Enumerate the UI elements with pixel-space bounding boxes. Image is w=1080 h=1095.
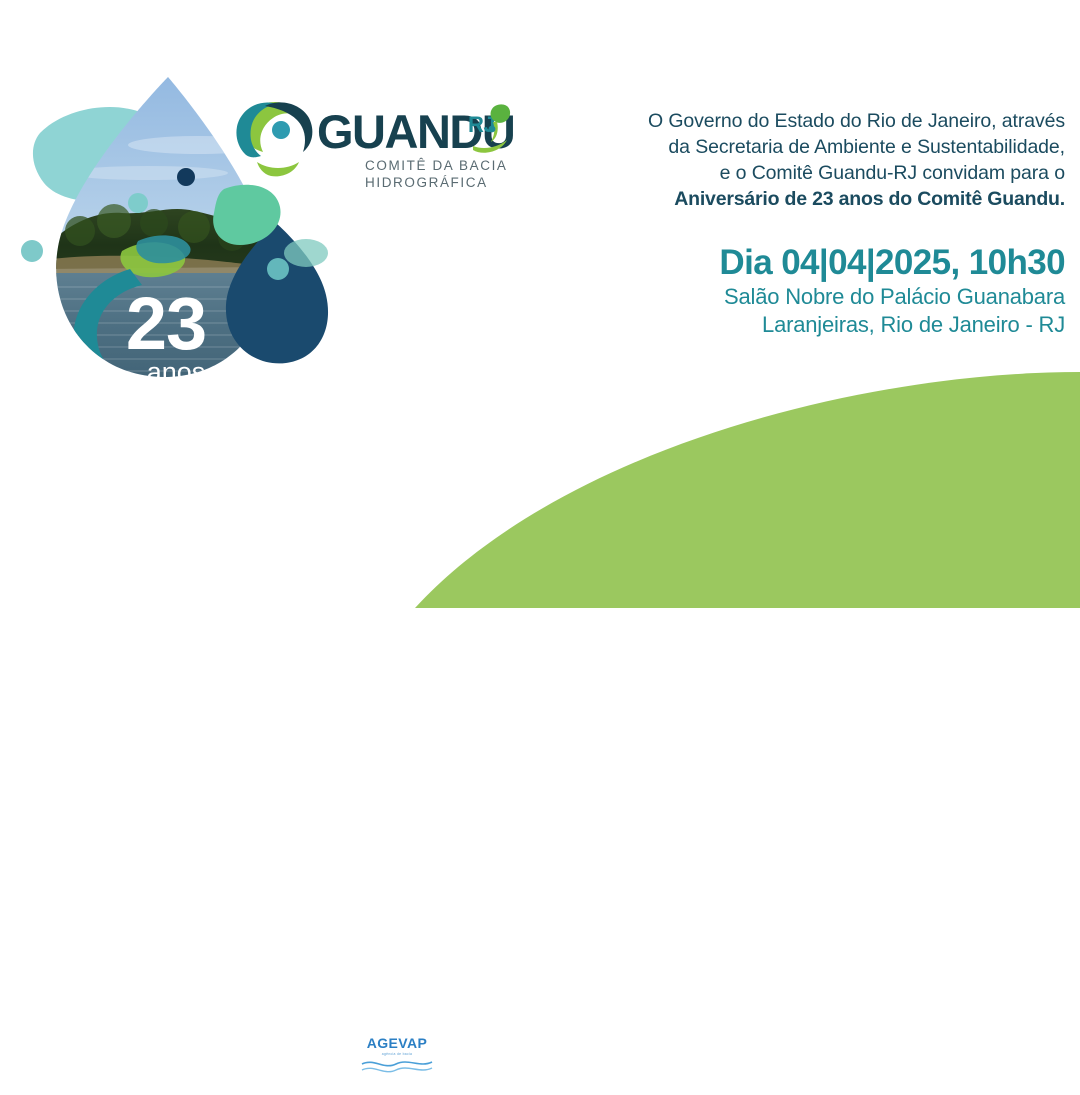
footer-logo-strip: AGEVAP agência de bacia FUNDO ESTADUAL D…: [0, 512, 1080, 596]
decor-blob-right: [284, 239, 328, 267]
secretaria-logo: Secretaria de Ambiente e Sustentabilidad…: [702, 1049, 782, 1078]
invitation-line-1: O Governo do Estado do Rio de Janeiro, a…: [520, 108, 1065, 134]
rio2030-name: Rio: [984, 1047, 1012, 1068]
guandu-subtitle-2: HIDROGRÁFICA: [365, 175, 488, 190]
fundrhi-name: FUNDRHI: [482, 1043, 582, 1067]
invitation-line-3: e o Comitê Guandu-RJ convidam para o: [520, 160, 1065, 186]
agevap-name: AGEVAP: [360, 1036, 434, 1051]
rio2030-mark: Rio 20 30 É nossa, de sua: [982, 1042, 1068, 1086]
decor-dot-navy: [177, 168, 195, 186]
inea-name: inea: [571, 1049, 621, 1077]
secretaria-line-1: Secretaria de: [702, 1049, 782, 1059]
event-details-block: Dia 04|04|2025, 10h30 Salão Nobre do Pal…: [520, 243, 1065, 339]
decor-dot-left: [21, 240, 43, 262]
governo-main-text: RIO DE JANEIRO: [833, 1040, 970, 1082]
anniversary-label: anos: [147, 357, 206, 387]
governo-divider: [833, 1084, 970, 1085]
inea-line-1: instituto estadual: [626, 1053, 689, 1064]
fundrhi-logo: FUNDO ESTADUAL DE FUNDRHI RECURSOS HÍDRI…: [482, 1039, 582, 1087]
event-venue: Salão Nobre do Palácio Guanabara: [520, 283, 1065, 311]
secretaria-line-3: Sustentabilidade: [702, 1068, 782, 1078]
decor-dot-teal2: [267, 258, 289, 280]
secretaria-line-2: Ambiente e: [702, 1059, 782, 1069]
guandu-logo: GUANDU RJ COMITÊ DA BACIA HIDROGRÁFICA: [225, 92, 515, 200]
invitation-poster: 23 anos GUANDU RJ COMITÊ DA BACIA HIDROG…: [0, 0, 1080, 608]
decor-dot-teal: [128, 193, 148, 213]
guandu-subtitle-1: COMITÊ DA BACIA: [365, 158, 508, 173]
svg-text:30: 30: [1028, 1061, 1046, 1080]
rio2030-tagline: É nossa, de sua: [985, 1067, 1026, 1072]
governo-logo: GOVERNO DO ESTADO RIO DE JANEIRO SEM TEM…: [790, 1036, 970, 1088]
governo-top-text: GOVERNO DO ESTADO: [833, 1029, 970, 1040]
governo-slogan: SEM TEMPO A PERDER: [833, 1087, 970, 1095]
invitation-text-block: O Governo do Estado do Rio de Janeiro, a…: [520, 108, 1065, 212]
inea-logo: inea instituto estadual do ambiente: [571, 1046, 696, 1080]
rio2030-logo: Rio 20 30 É nossa, de sua: [982, 1042, 1068, 1086]
coat-of-arms-icon: [790, 1037, 827, 1087]
agevap-logo: AGEVAP agência de bacia: [360, 1036, 434, 1084]
fundrhi-top-text: FUNDO ESTADUAL DE: [482, 1039, 582, 1043]
inea-line-2: do ambiente: [626, 1063, 689, 1074]
invitation-highlight: Aniversário de 23 anos do Comitê Guandu.: [520, 186, 1065, 212]
event-date: Dia 04|04|2025, 10h30: [520, 243, 1065, 283]
event-location: Laranjeiras, Rio de Janeiro - RJ: [520, 311, 1065, 339]
invitation-line-2: da Secretaria de Ambiente e Sustentabili…: [520, 134, 1065, 160]
fundrhi-subtitle: RECURSOS HÍDRICOS DO ESTADO DO RIO: [482, 1067, 582, 1077]
agevap-wave-icon: [360, 1056, 434, 1078]
anniversary-number: 23: [126, 282, 206, 365]
